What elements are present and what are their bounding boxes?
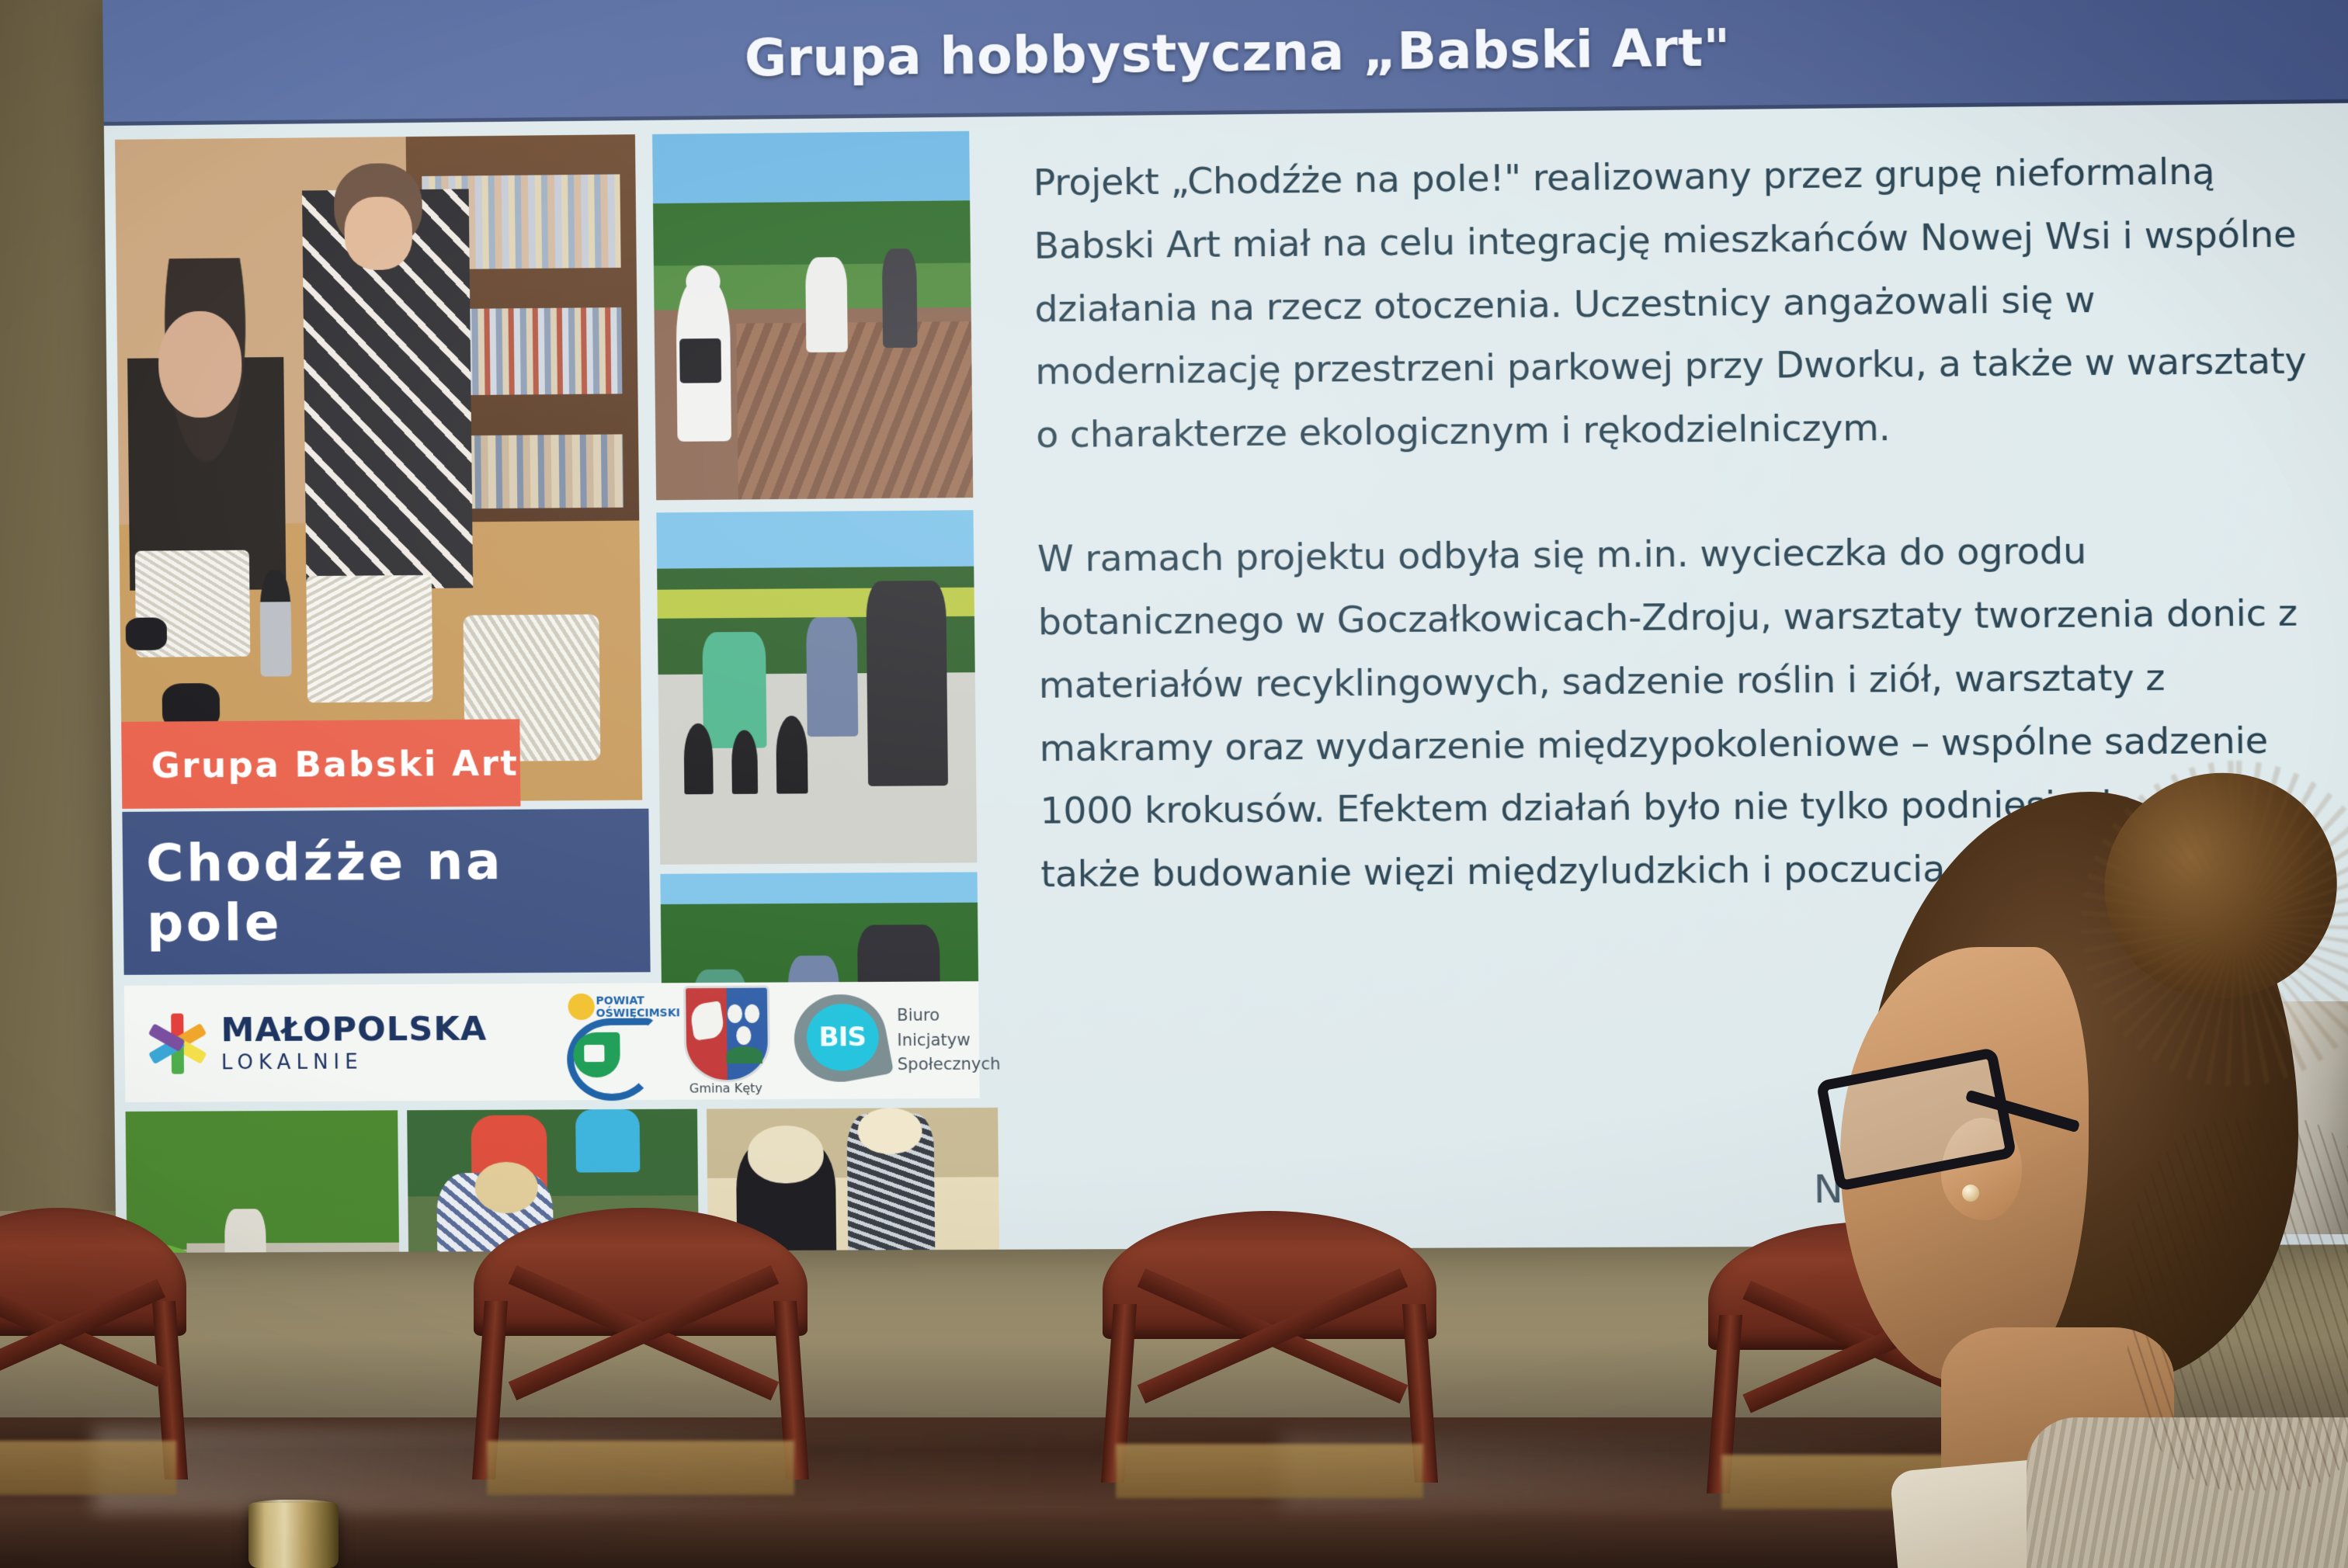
malopolska-logo-sub: LOKALNIE [221,1052,488,1074]
red-banner-grupa-babski-art: Grupa Babski Art [121,719,520,808]
chair-2 [474,1208,808,1503]
bis-line1: Biuro [897,1003,1000,1028]
slide-title-bar: Grupa hobbystyczna „Babski Art" [102,0,2348,126]
slide-title: Grupa hobbystyczna „Babski Art" [744,17,1731,88]
sponsor-logo-strip: MAŁOPOLSKA LOKALNIE POWIAT OŚWIĘCIMSKI [124,981,980,1102]
left-wall [0,0,115,1234]
powiat-oswiecimski-logo: POWIAT OŚWIĘCIMSKI [554,992,636,1092]
seated-person-foreground [1848,792,2348,1568]
slide-paragraph-1: Projekt „Chodźże na pole!" realizowany p… [1033,140,2324,468]
chair-3 [1103,1211,1436,1506]
star-icon [144,1011,210,1076]
brass-cup [248,1503,339,1568]
person-eyeglasses [1825,1063,2050,1164]
photo-collage: Grupa Babski Art Chodźże na pole MAŁOPOL… [102,131,1006,1173]
bis-mark: BIS [806,1004,879,1071]
chair-1 [0,1208,186,1503]
earring-icon [1962,1185,1979,1202]
bis-logo: BIS Biuro Inicjatyw Społecznych [794,989,980,1091]
red-banner-text: Grupa Babski Art [151,742,519,786]
malopolska-logo-name: MAŁOPOLSKA [221,1013,487,1048]
photo-of-conference-room-presentation: Grupa hobbystyczna „Babski Art" [0,0,2348,1568]
bis-line2: Inicjatyw [897,1028,1000,1053]
bis-line3: Społecznych [898,1052,1001,1077]
sun-icon [568,994,595,1020]
gmina-kety-coat-of-arms: Gmina Kęty [674,986,746,1097]
powiat-logo-line1: POWIAT [596,994,680,1008]
bis-mark-text: BIS [818,1022,866,1053]
blue-banner-text: Chodźże na pole [146,831,651,953]
person-loose-hair-strands [2127,1118,2348,1490]
malopolska-lokalnie-logo: MAŁOPOLSKA LOKALNIE [144,1010,488,1077]
photo-garden-path [652,131,973,501]
blue-banner-chodzze-na-pole: Chodźże na pole [122,809,650,975]
photo-giant-chess [656,510,977,865]
photo-macrame-workshop [115,134,642,803]
title-bar-edge [104,99,2348,126]
gmina-kety-caption: Gmina Kęty [679,1081,772,1096]
